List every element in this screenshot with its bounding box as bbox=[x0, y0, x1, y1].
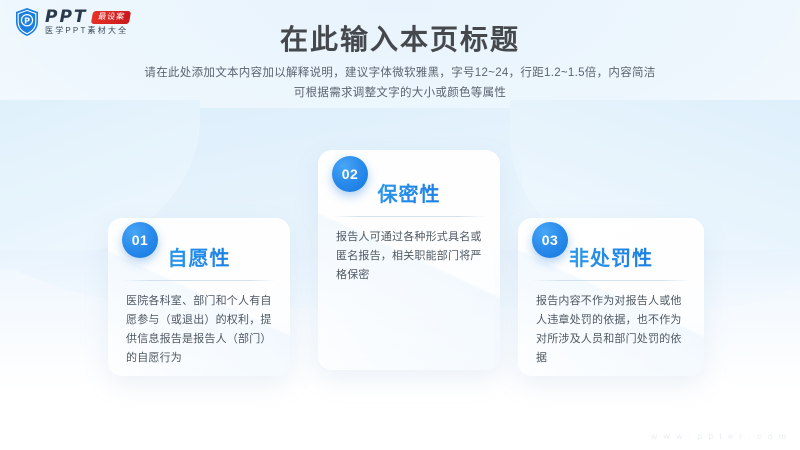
logo-primary-row: PPT 最设案 bbox=[45, 9, 130, 26]
slide-canvas: P PPT 最设案 医学PPT素材大全 在此输入本页标题 请在此处添加文本内容加… bbox=[0, 0, 800, 450]
site-watermark: w w w . p p t e r . c o m bbox=[651, 431, 788, 441]
card-1-body: 医院各科室、部门和个人有自愿参与（或退出）的权利，提供信息报告是报告人（部门）的… bbox=[108, 281, 290, 368]
card-2-number-badge: 02 bbox=[332, 156, 368, 192]
logo-wordmark: PPT bbox=[45, 9, 88, 26]
brand-logo[interactable]: P PPT 最设案 医学PPT素材大全 bbox=[14, 7, 130, 37]
svg-text:P: P bbox=[24, 17, 30, 26]
card-1-number-badge: 01 bbox=[122, 222, 158, 258]
feature-card-3-inner: 03 非处罚性 报告内容不作为对报告人或他人违章处罚的依据，也不作为对所涉及人员… bbox=[518, 242, 704, 400]
feature-card-3[interactable]: 03 非处罚性 报告内容不作为对报告人或他人违章处罚的依据，也不作为对所涉及人员… bbox=[518, 218, 704, 376]
feature-card-2-inner: 02 保密性 报告人可通过各种形式具名或匿名报告，相关职能部门将严格保密 bbox=[318, 178, 500, 398]
subtitle-line-2: 可根据需求调整文字的大小或颜色等属性 bbox=[0, 83, 800, 103]
page-subtitle: 请在此处添加文本内容加以解释说明，建议字体微软雅黑，字号12~24，行距1.2~… bbox=[0, 63, 800, 103]
feature-card-2[interactable]: 02 保密性 报告人可通过各种形式具名或匿名报告，相关职能部门将严格保密 bbox=[318, 150, 500, 370]
card-2-body: 报告人可通过各种形式具名或匿名报告，相关职能部门将严格保密 bbox=[318, 217, 500, 285]
logo-text-block: PPT 最设案 医学PPT素材大全 bbox=[45, 9, 130, 35]
logo-badge: 最设案 bbox=[90, 11, 130, 24]
logo-tagline: 医学PPT素材大全 bbox=[45, 27, 130, 35]
feature-card-1-inner: 01 自愿性 医院各科室、部门和个人有自愿参与（或退出）的权利，提供信息报告是报… bbox=[108, 242, 290, 400]
shield-p-icon: P bbox=[14, 7, 40, 37]
card-3-number-badge: 03 bbox=[532, 222, 568, 258]
subtitle-line-1: 请在此处添加文本内容加以解释说明，建议字体微软雅黑，字号12~24，行距1.2~… bbox=[0, 63, 800, 83]
feature-card-1[interactable]: 01 自愿性 医院各科室、部门和个人有自愿参与（或退出）的权利，提供信息报告是报… bbox=[108, 218, 290, 376]
card-3-body: 报告内容不作为对报告人或他人违章处罚的依据，也不作为对所涉及人员和部门处罚的依据 bbox=[518, 281, 704, 368]
